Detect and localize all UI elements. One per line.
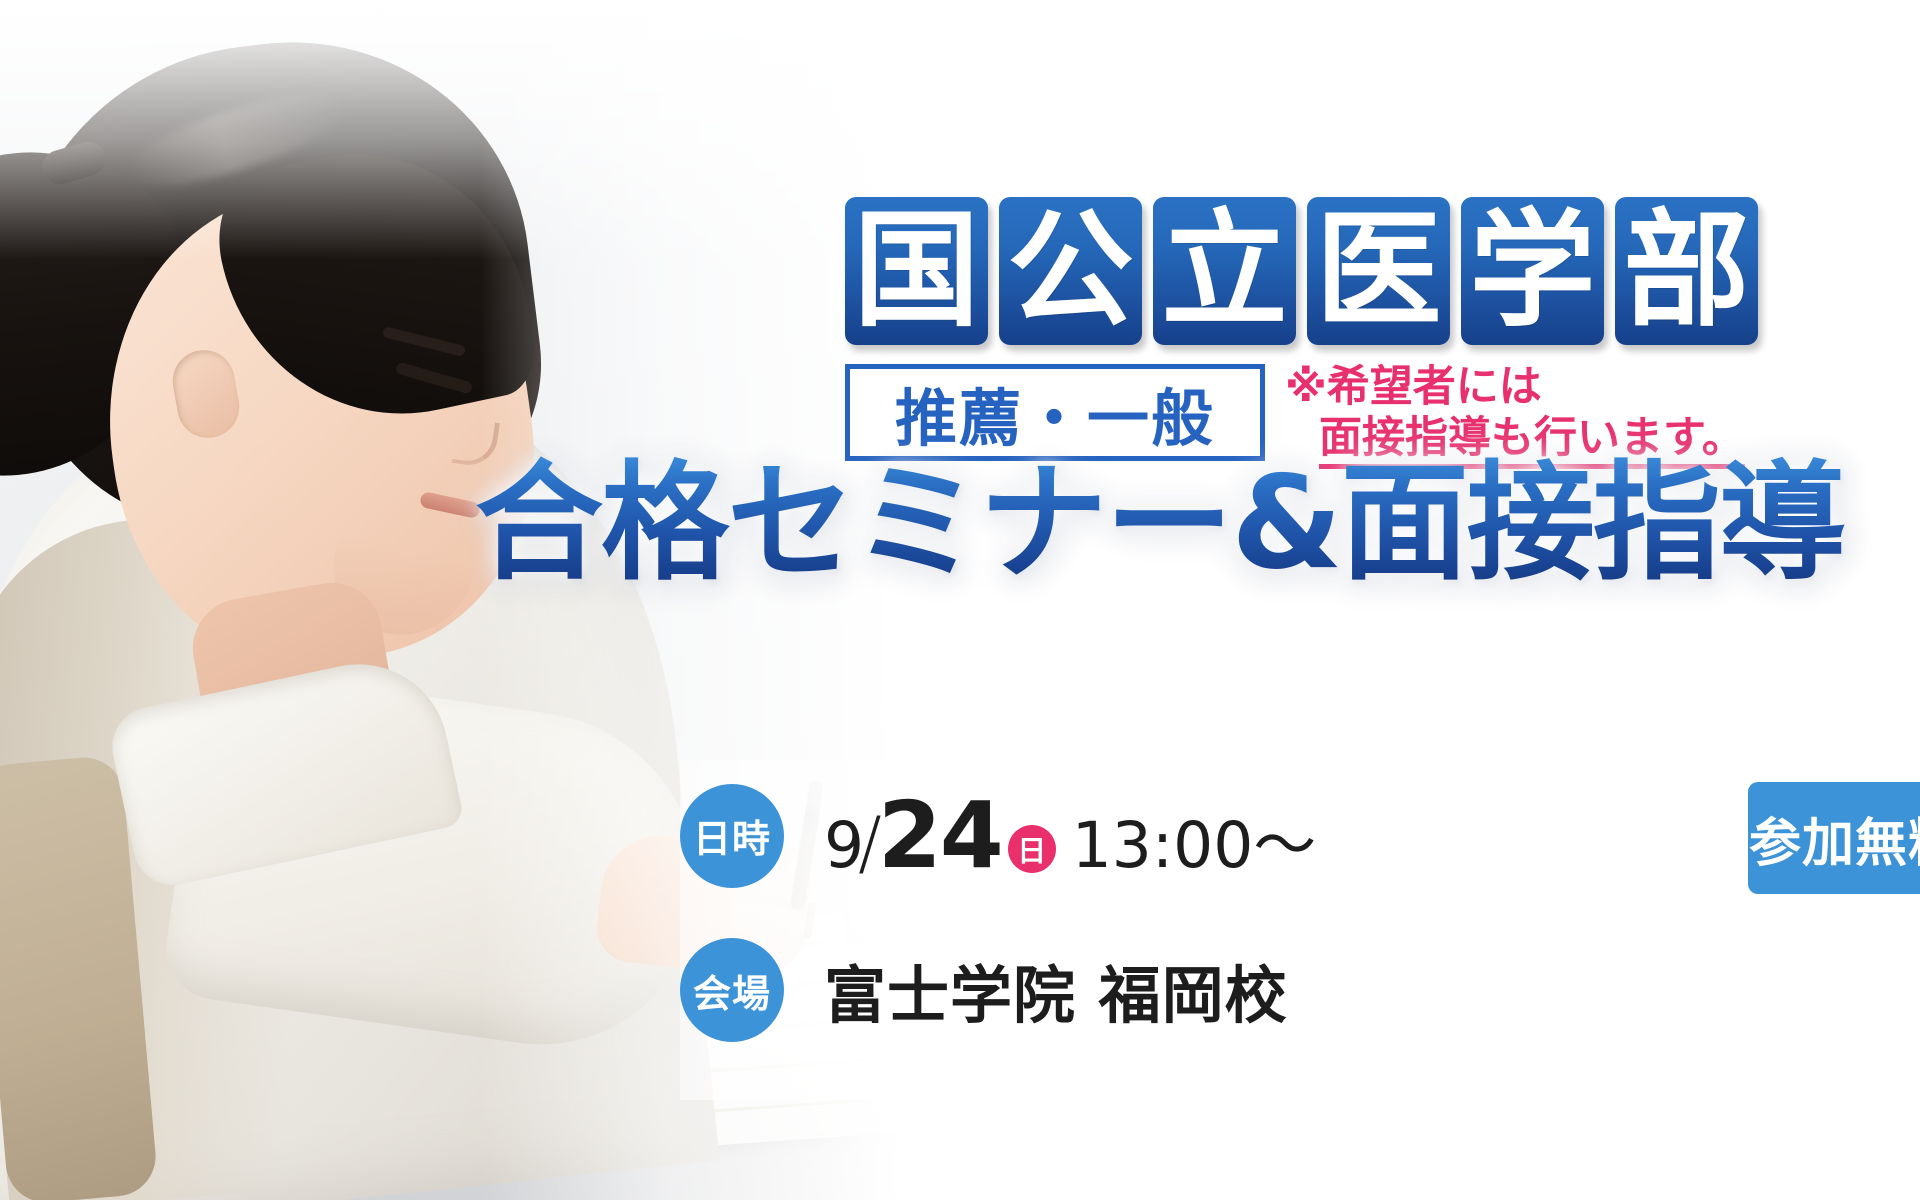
venue-value: 富士学院 福岡校 <box>824 945 1288 1035</box>
title-kanji-box-4: 医 <box>1307 197 1450 345</box>
title-kanji-box-6: 部 <box>1615 197 1758 345</box>
free-participation-badge: 参加無料 <box>1748 782 1920 894</box>
venue-label-badge: 会場 <box>680 938 784 1042</box>
main-headline: 合格セミナー&面接指導 <box>400 455 1920 593</box>
event-time: 13:00〜 <box>1072 795 1317 886</box>
title-kanji-box-1: 国 <box>845 197 988 345</box>
seminar-banner: 国 公 立 医 学 部 推薦・一般 ※希望者には 面接指導も行います。 合格セミ… <box>0 0 1920 1200</box>
interview-note-line1: ※希望者には <box>1285 362 1745 413</box>
datetime-label-badge: 日時 <box>680 784 784 888</box>
venue-row: 会場 富士学院 福岡校 <box>680 938 1288 1042</box>
title-kanji-box-2: 公 <box>999 197 1142 345</box>
banner-content: 国 公 立 医 学 部 推薦・一般 ※希望者には 面接指導も行います。 合格セミ… <box>480 0 1920 1200</box>
event-info-panel: 日時 9 / 24 日 13:00〜 会場 富士学院 福岡校 <box>680 760 1680 1100</box>
date-day: 24 <box>878 782 1002 889</box>
title-kanji-row: 国 公 立 医 学 部 <box>845 197 1758 345</box>
title-kanji-box-3: 立 <box>1153 197 1296 345</box>
datetime-row: 日時 9 / 24 日 13:00〜 <box>680 782 1316 889</box>
subtitle-label: 推薦・一般 <box>895 368 1215 458</box>
datetime-value: 9 / 24 日 13:00〜 <box>824 782 1316 889</box>
subtitle-box: 推薦・一般 <box>845 364 1265 461</box>
title-kanji-box-5: 学 <box>1461 197 1604 345</box>
day-of-week-badge: 日 <box>1008 825 1056 873</box>
